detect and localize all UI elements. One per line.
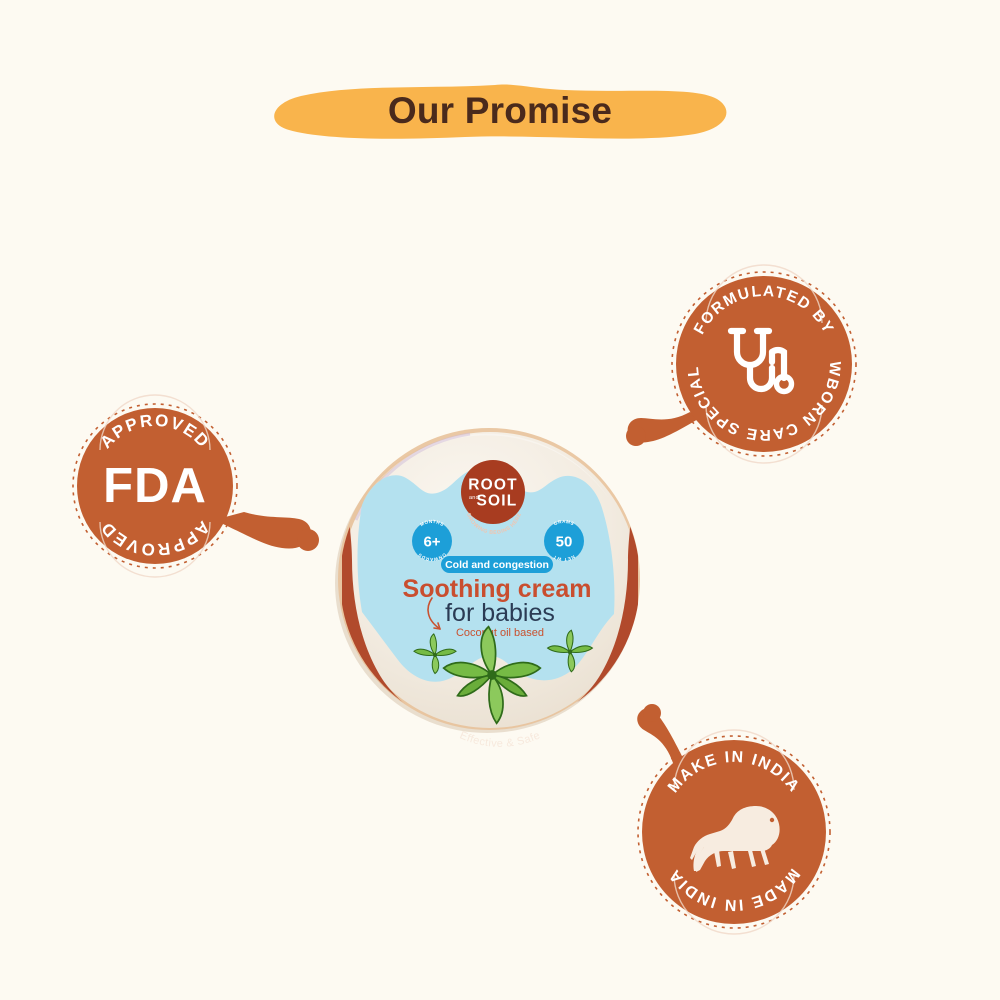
product-subtitle: Coconut oil based bbox=[456, 627, 544, 639]
formulated-by-badge[interactable]: FORMULATED BY NEWBORN CARE SPECIALIST bbox=[0, 0, 856, 463]
fda-tail-dot bbox=[297, 529, 319, 551]
formulated-badge-circle bbox=[676, 276, 852, 452]
promise-section: Our Promise bbox=[0, 0, 1000, 1000]
page-title: Our Promise bbox=[265, 82, 735, 140]
fda-center-text: FDA bbox=[103, 459, 207, 513]
fda-approved-badge[interactable]: APPROVED APPROVED FDA bbox=[73, 395, 319, 577]
product-tin[interactable]: ROOT and SOIL GROWING BEGINS HERE 6+ MON… bbox=[335, 428, 640, 760]
page-title-banner: Our Promise bbox=[265, 82, 735, 140]
formulated-tail-dot bbox=[626, 426, 646, 446]
condition-pill: Cold and congestion bbox=[441, 556, 553, 573]
condition-pill-text: Cold and congestion bbox=[445, 559, 549, 571]
made-in-india-badge[interactable]: MAKE IN INDIA MADE IN INDIA bbox=[637, 704, 830, 934]
logo-brand-line2: SOIL bbox=[477, 493, 518, 510]
promise-artwork: APPROVED APPROVED FDA FORMULATED BY NEWB… bbox=[0, 0, 1000, 1000]
fda-badge-tail bbox=[214, 512, 311, 549]
weight-pill-value: 50 bbox=[556, 534, 573, 551]
product-title-line2: for babies bbox=[445, 599, 555, 627]
age-pill-value: 6+ bbox=[423, 534, 440, 551]
india-tail-dot bbox=[643, 704, 661, 722]
logo-brand-line1: ROOT bbox=[468, 477, 518, 494]
